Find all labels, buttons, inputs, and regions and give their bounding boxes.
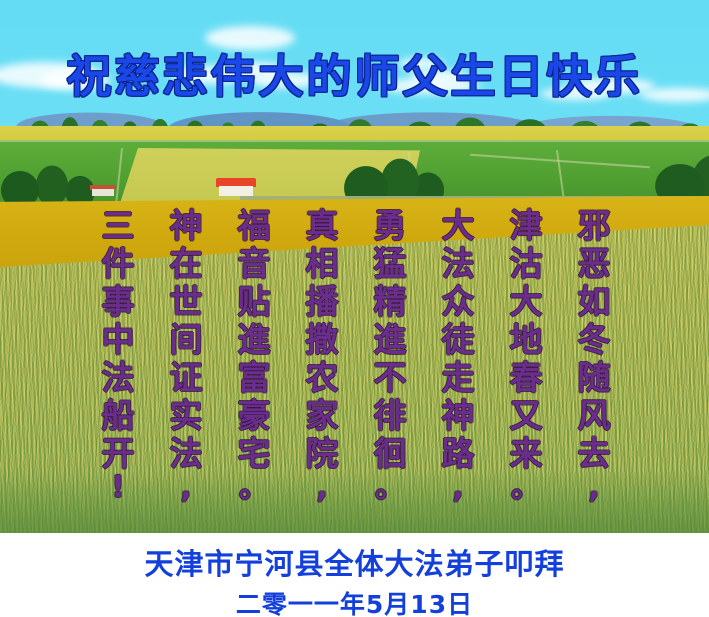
poem-punctuation: 。 xyxy=(239,473,269,507)
poem-char: 又 xyxy=(510,397,543,435)
poem-char: 進 xyxy=(374,321,407,359)
poem-char: 猛 xyxy=(374,245,407,283)
poem-char: 去 xyxy=(578,435,611,473)
poem-char: 如 xyxy=(578,283,611,321)
poem-punctuation: , xyxy=(316,473,327,507)
poem-char: 法 xyxy=(442,245,475,283)
poem-char: 院 xyxy=(306,435,339,473)
poem-char: 精 xyxy=(374,283,407,321)
poem-char: 津 xyxy=(510,207,543,245)
landscape-photo: 祝慈悲伟大的师父生日快乐 邪 恶 如 冬 随 风 去 , 津 沽 大 地 春 又… xyxy=(0,0,709,533)
poem-char: 农 xyxy=(306,359,339,397)
cloud-icon xyxy=(0,0,140,34)
poem-char: 路 xyxy=(442,435,475,473)
poem-punctuation: , xyxy=(588,473,599,507)
date-line: 二零一一年5月13日 xyxy=(0,585,709,617)
poem-char: 风 xyxy=(578,397,611,435)
poem-char: 播 xyxy=(306,283,339,321)
poem-punctuation: 。 xyxy=(511,473,541,507)
poem-char: 法 xyxy=(102,359,135,397)
poem-column: 邪 恶 如 冬 随 风 去 , xyxy=(572,207,616,507)
poem-char: 世 xyxy=(170,283,203,321)
poem-char: 春 xyxy=(510,359,543,397)
poem-char: 证 xyxy=(170,359,203,397)
signature-line: 天津市宁河县全体大法弟子叩拜 xyxy=(0,541,709,583)
poem-char: 众 xyxy=(442,283,475,321)
poem-char: 相 xyxy=(306,245,339,283)
poem-column: 神 在 世 间 证 实 法 , xyxy=(164,207,208,507)
poem-char: 神 xyxy=(170,207,203,245)
poem-column: 福 音 贴 進 富 豪 宅 。 xyxy=(232,207,276,507)
poem-char: 开 xyxy=(102,435,135,473)
farmhouse-wall xyxy=(219,186,253,196)
poem-char: 三 xyxy=(102,207,135,245)
page-title: 祝慈悲伟大的师父生日快乐 xyxy=(0,40,709,105)
field-seam xyxy=(0,140,709,142)
poem-char: 贴 xyxy=(238,283,271,321)
poem-column: 真 相 播 撒 农 家 院 , xyxy=(300,207,344,507)
poem-char: 冬 xyxy=(578,321,611,359)
poem-char: 徊 xyxy=(374,435,407,473)
poem-char: 事 xyxy=(102,283,135,321)
poem-char: 進 xyxy=(238,321,271,359)
poem-char: 走 xyxy=(442,359,475,397)
poem-char: 大 xyxy=(510,283,543,321)
poem-char: 邪 xyxy=(578,207,611,245)
poem-char: 来 xyxy=(510,435,543,473)
poem-char: 间 xyxy=(170,321,203,359)
shed-wall xyxy=(92,189,114,196)
poem-char: 中 xyxy=(102,321,135,359)
poem-char: 实 xyxy=(170,397,203,435)
greeting-card: 祝慈悲伟大的师父生日快乐 邪 恶 如 冬 随 风 去 , 津 沽 大 地 春 又… xyxy=(0,0,709,617)
poem-char: 法 xyxy=(170,435,203,473)
poem-char: 船 xyxy=(102,397,135,435)
poem: 邪 恶 如 冬 随 风 去 , 津 沽 大 地 春 又 来 。 大 xyxy=(96,207,616,507)
poem-char: 随 xyxy=(578,359,611,397)
poem-column: 大 法 众 徒 走 神 路 , xyxy=(436,207,480,507)
poem-punctuation: , xyxy=(452,473,463,507)
poem-column: 津 沽 大 地 春 又 来 。 xyxy=(504,207,548,507)
poem-char: 地 xyxy=(510,321,543,359)
poem-char: 不 xyxy=(374,359,407,397)
poem-char: 大 xyxy=(442,207,475,245)
poem-char: 宅 xyxy=(238,435,271,473)
poem-char: 恶 xyxy=(578,245,611,283)
poem-char: 富 xyxy=(238,359,271,397)
poem-char: 家 xyxy=(306,397,339,435)
poem-punctuation: 。 xyxy=(375,473,405,507)
poem-char: 勇 xyxy=(374,207,407,245)
farm-shed xyxy=(90,185,116,196)
footer: 天津市宁河县全体大法弟子叩拜 二零一一年5月13日 xyxy=(0,533,709,617)
poem-column: 三 件 事 中 法 船 开 ! xyxy=(96,207,140,507)
poem-column: 勇 猛 精 進 不 徘 徊 。 xyxy=(368,207,412,507)
poem-char: 徘 xyxy=(374,397,407,435)
poem-punctuation: ! xyxy=(111,473,125,507)
poem-char: 福 xyxy=(238,207,271,245)
poem-char: 神 xyxy=(442,397,475,435)
poem-char: 件 xyxy=(102,245,135,283)
poem-char: 豪 xyxy=(238,397,271,435)
farmhouse xyxy=(216,178,256,196)
poem-char: 音 xyxy=(238,245,271,283)
poem-char: 真 xyxy=(306,207,339,245)
poem-punctuation: , xyxy=(180,473,191,507)
poem-char: 徒 xyxy=(442,321,475,359)
poem-char: 在 xyxy=(170,245,203,283)
poem-char: 撒 xyxy=(306,321,339,359)
poem-char: 沽 xyxy=(510,245,543,283)
